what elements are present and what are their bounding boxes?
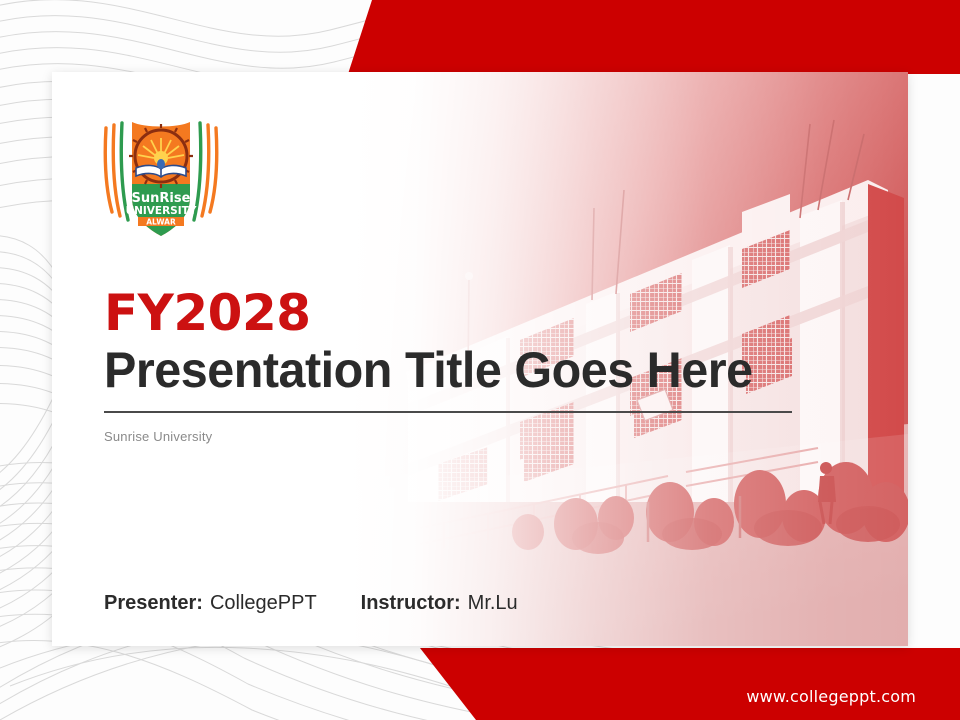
logo-line2: UNIVERSITY [126,205,197,217]
fiscal-year-label: FY2028 [104,288,804,338]
title-divider [104,411,792,413]
footer-website-url[interactable]: www.collegeppt.com [746,687,916,706]
title-block: FY2028 Presentation Title Goes Here Sunr… [104,288,804,444]
logo-line1: SunRise [132,191,191,206]
subtitle-organization: Sunrise University [104,429,804,444]
presentation-slide: SunRise UNIVERSITY ALWAR FY2028 Presenta… [0,0,960,720]
logo-line3: ALWAR [146,218,176,227]
page-title: Presentation Title Goes Here [104,344,783,397]
presenter-value: CollegePPT [210,592,317,615]
university-logo: SunRise UNIVERSITY ALWAR [96,112,226,242]
credits-row: Presenter: CollegePPT Instructor: Mr.Lu [104,592,518,615]
instructor-value: Mr.Lu [468,592,518,615]
presenter-label: Presenter: [104,592,203,615]
instructor-label: Instructor: [361,592,461,615]
